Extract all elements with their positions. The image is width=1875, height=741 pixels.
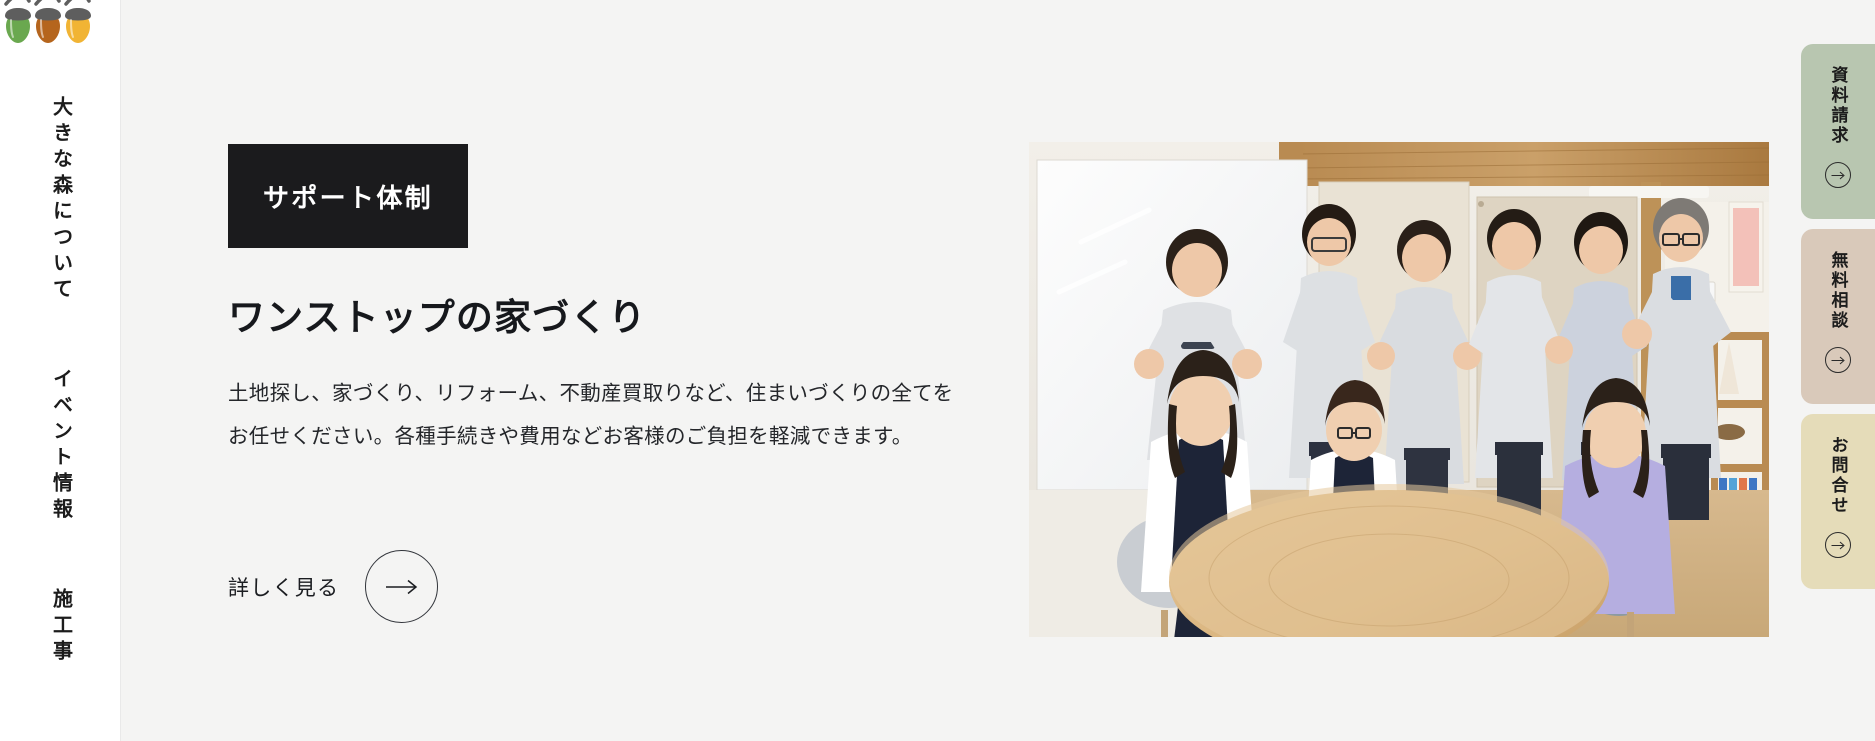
sidebar-nav: 大きな森について イベント情報 施工事 xyxy=(0,96,121,730)
main-content: サポート体制 ワンストップの家づくり 土地探し、家づくり、リフォーム、不動産買取… xyxy=(228,0,948,741)
arrow-right-icon[interactable] xyxy=(1825,162,1851,188)
section-tag: サポート体制 xyxy=(228,144,468,248)
side-tab-free-consultation-label: 無料相談 xyxy=(1830,251,1847,331)
acorn-logo[interactable] xyxy=(2,0,94,48)
page-root: 大きな森について イベント情報 施工事 サポート体制 ワンストップの家づくり 土… xyxy=(0,0,1875,741)
left-sidebar: 大きな森について イベント情報 施工事 xyxy=(0,0,121,741)
side-tab-contact[interactable]: お問合せ xyxy=(1801,414,1875,589)
details-link[interactable]: 詳しく見る xyxy=(228,550,438,623)
arrow-right-icon[interactable] xyxy=(1825,532,1851,558)
office-team-photo xyxy=(1029,142,1769,637)
sidebar-item-events[interactable]: イベント情報 xyxy=(51,368,71,524)
floating-action-tabs: 資料請求 無料相談 お問合せ xyxy=(1801,44,1875,589)
page-title: ワンストップの家づくり xyxy=(228,294,948,342)
side-tab-free-consultation[interactable]: 無料相談 xyxy=(1801,229,1875,404)
side-tab-contact-label: お問合せ xyxy=(1830,436,1847,516)
sidebar-item-works[interactable]: 施工事 xyxy=(51,588,71,666)
side-tab-request-materials-label: 資料請求 xyxy=(1830,66,1847,146)
body-paragraph: 土地探し、家づくり、リフォーム、不動産買取りなど、住まいづくりの全てをお任せくだ… xyxy=(228,372,963,459)
details-link-label: 詳しく見る xyxy=(228,572,339,602)
side-tab-request-materials[interactable]: 資料請求 xyxy=(1801,44,1875,219)
sidebar-item-about[interactable]: 大きな森について xyxy=(51,96,71,304)
arrow-right-icon[interactable] xyxy=(365,550,438,623)
arrow-right-icon[interactable] xyxy=(1825,347,1851,373)
